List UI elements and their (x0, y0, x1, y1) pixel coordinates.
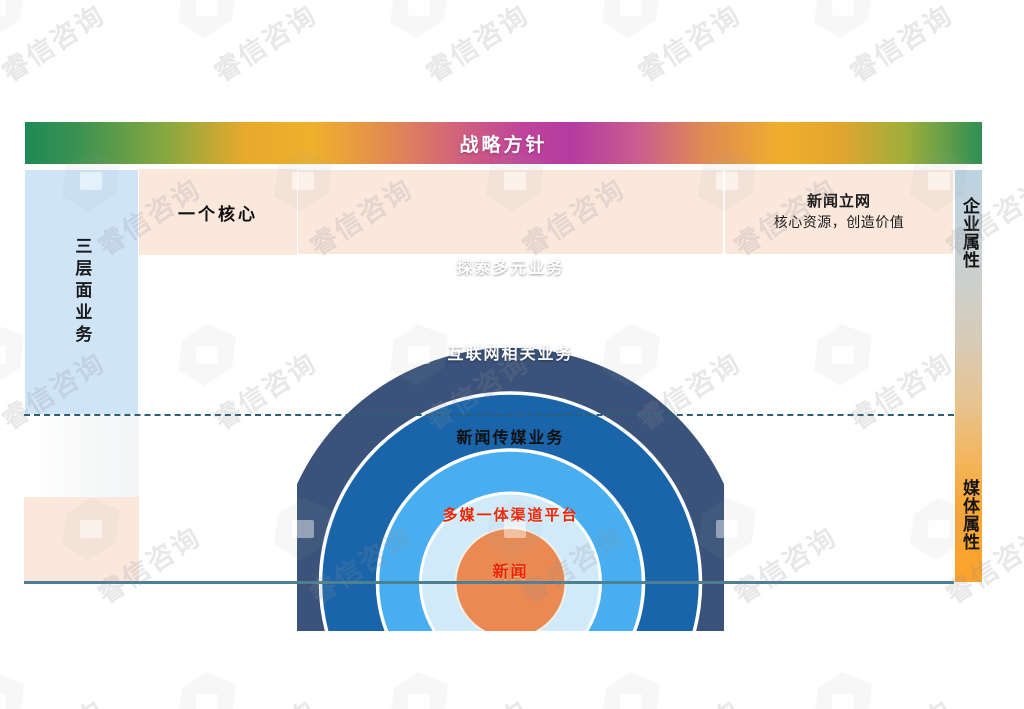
ring-circle-internet (321, 393, 701, 631)
center-band-core (297, 169, 724, 255)
business-platform-divider (24, 414, 954, 416)
ring-label-news: 新闻 (297, 558, 724, 582)
watermark-logo-icon (0, 0, 34, 44)
watermark-logo-icon (1020, 666, 1024, 709)
description-subtitle-news: 核心资源，创造价值 (774, 215, 905, 234)
ring-circle-diversified (297, 346, 724, 631)
watermark-text: 睿信咨询 (629, 0, 748, 89)
description-title-news: 新闻立网 (807, 190, 871, 211)
watermark-logo-icon (808, 666, 882, 709)
watermark-text: 睿信咨询 (205, 0, 324, 89)
watermark-logo-icon (384, 0, 458, 44)
ring-circle-media (378, 450, 644, 631)
platform-left-filler (24, 415, 139, 497)
ring-label-platform: 多媒一体渠道平台 (297, 504, 724, 525)
one-core-label: 一个核心 (178, 200, 258, 225)
ring-circle-news (456, 528, 566, 631)
attribute-bar: 企业属性 媒体属性 (954, 169, 983, 583)
banner-title: 战略方针 (459, 130, 547, 157)
watermark-text: 睿信咨询 (629, 690, 748, 709)
ring-circle-platform (421, 493, 601, 631)
watermark-text: 睿信咨询 (841, 690, 960, 709)
diagram-body-grid: 三层面业务 多元业务层 跃升业务层 基础业务层 一个平台 一个核心 应用强网 引… (24, 169, 983, 583)
watermark-text: 睿信咨询 (841, 0, 960, 89)
watermark-text: 睿信咨询 (0, 690, 111, 709)
attribute-label-media: 媒体属性 (955, 460, 984, 570)
watermark-logo-icon (172, 666, 246, 709)
diagram-bottom-rule (24, 581, 954, 584)
three-layer-business-cell: 三层面业务 (24, 169, 139, 415)
watermark-logo-icon (0, 666, 34, 709)
watermark-logo-icon (596, 0, 670, 44)
strategy-banner: 战略方针 (24, 121, 983, 165)
watermark-text: 睿信咨询 (417, 0, 536, 89)
watermark-logo-icon (1020, 318, 1024, 392)
watermark-text: 睿信咨询 (0, 0, 111, 89)
concentric-circles-group: 探索多元业务 互联网相关业务 新闻传媒业务 多媒一体渠道平台 新闻 (297, 217, 724, 631)
watermark-logo-icon (596, 666, 670, 709)
ring-label-media: 新闻传媒业务 (297, 424, 724, 448)
strategy-diagram: 战略方针 三层面业务 多元业务层 跃升业务层 基础业务层 一个平台 一个核心 (24, 121, 983, 583)
watermark-logo-icon (172, 0, 246, 44)
one-core-cell: 一个核心 (139, 169, 297, 255)
ring-label-internet: 互联网相关业务 (297, 340, 724, 364)
ring-label-diversified: 探索多元业务 (297, 254, 724, 278)
watermark-text: 睿信咨询 (205, 690, 324, 709)
watermark-logo-icon (384, 666, 458, 709)
watermark-logo-icon (808, 0, 882, 44)
three-layer-business-label: 三层面业务 (73, 237, 91, 347)
concentric-circles-svg (297, 217, 724, 631)
core-left-filler (24, 497, 139, 583)
watermark-text: 睿信咨询 (417, 690, 536, 709)
description-cell-news: 新闻立网 核心资源，创造价值 (724, 169, 954, 255)
attribute-label-enterprise: 企业属性 (955, 178, 984, 288)
watermark-logo-icon (1020, 0, 1024, 44)
